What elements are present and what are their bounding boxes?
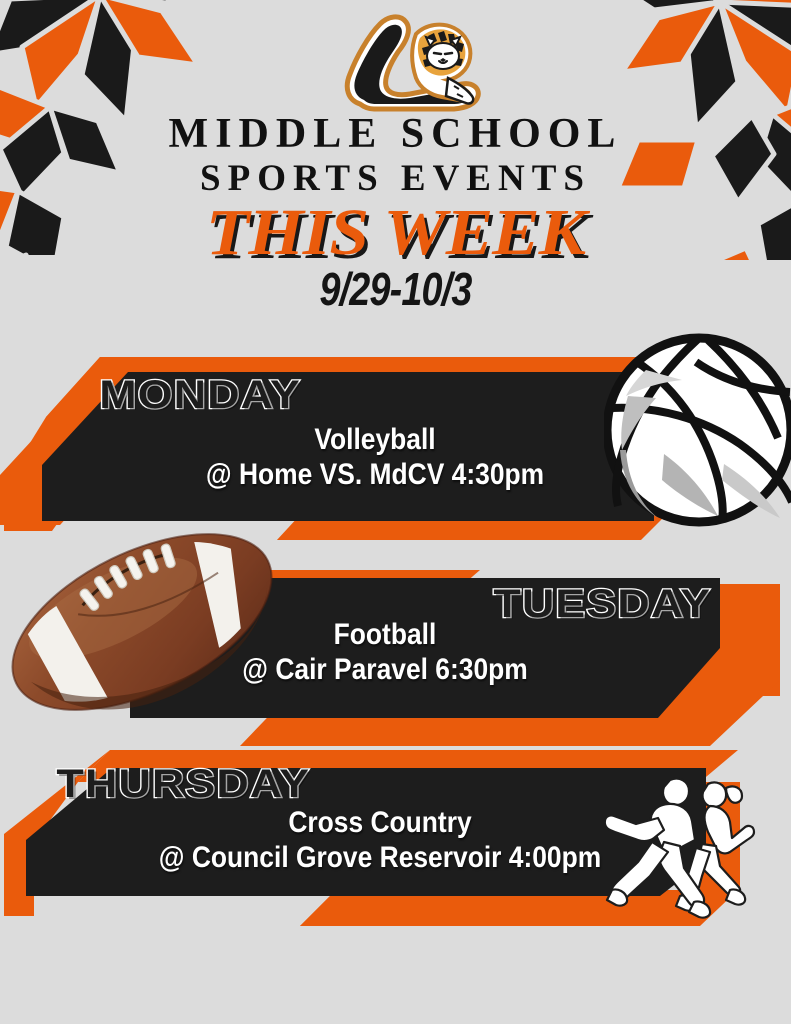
flyer-canvas: MIDDLE SCHOOL SPORTS EVENTS THIS WEEK 9/…: [0, 0, 791, 1024]
event-sport-thursday: Cross Country: [142, 806, 617, 841]
event-text-thursday: Cross Country @ Council Grove Reservoir …: [142, 806, 617, 876]
header-line-1: MIDDLE SCHOOL: [0, 112, 791, 157]
tiger-l-logo-icon: [330, 8, 490, 116]
event-sport-monday: Volleyball: [177, 423, 573, 458]
header-block: MIDDLE SCHOOL SPORTS EVENTS: [0, 112, 791, 198]
event-banner-monday: MONDAY Volleyball @ Home VS. MdCV 4:30pm: [0, 355, 700, 540]
this-week-emphasis: THIS WEEK: [0, 195, 791, 271]
day-label-thursday: THURSDAY: [56, 762, 310, 807]
date-range: 9/29-10/3: [71, 262, 720, 316]
runners-icon: [592, 772, 762, 922]
volleyball-icon: [604, 330, 791, 530]
football-icon: [0, 515, 292, 730]
event-details-thursday: @ Council Grove Reservoir 4:00pm: [142, 841, 617, 876]
event-text-monday: Volleyball @ Home VS. MdCV 4:30pm: [177, 423, 573, 493]
day-label-monday: MONDAY: [99, 373, 301, 418]
header-line-2: SPORTS EVENTS: [0, 159, 791, 198]
event-details-monday: @ Home VS. MdCV 4:30pm: [177, 458, 573, 493]
